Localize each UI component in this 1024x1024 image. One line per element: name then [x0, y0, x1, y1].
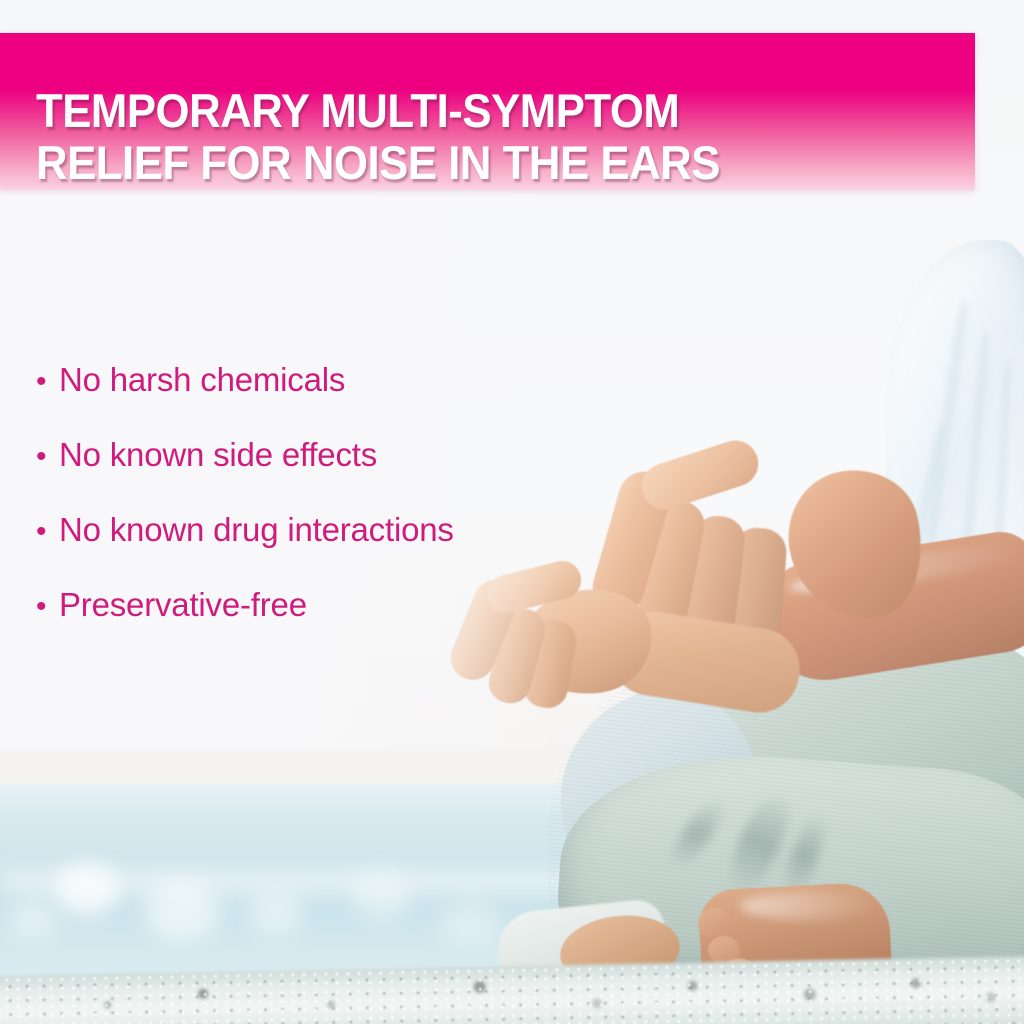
bullet-dot-icon: • — [36, 517, 59, 547]
benefit-label: Preservative-free — [59, 587, 307, 623]
list-item: • No harsh chemicals — [36, 362, 576, 437]
toe — [698, 908, 732, 938]
list-item: • No known side effects — [36, 437, 576, 512]
bullet-dot-icon: • — [36, 442, 59, 472]
foot-highlight — [740, 892, 880, 920]
benefit-label: No known drug interactions — [59, 512, 454, 548]
benefit-label: No known side effects — [59, 437, 377, 473]
ad-canvas: TEMPORARY MULTI-SYMPTOM RELIEF FOR NOISE… — [0, 0, 1024, 1024]
benefits-list: • No harsh chemicals • No known side eff… — [36, 362, 576, 662]
headline-text: TEMPORARY MULTI-SYMPTOM RELIEF FOR NOISE… — [36, 85, 901, 189]
list-item: • Preservative-free — [36, 587, 576, 662]
benefit-label: No harsh chemicals — [59, 362, 345, 398]
bullet-dot-icon: • — [36, 592, 59, 622]
upper-hand-thumb — [636, 435, 764, 516]
headline-banner: TEMPORARY MULTI-SYMPTOM RELIEF FOR NOISE… — [0, 33, 975, 190]
bullet-dot-icon: • — [36, 367, 59, 397]
list-item: • No known drug interactions — [36, 512, 576, 587]
